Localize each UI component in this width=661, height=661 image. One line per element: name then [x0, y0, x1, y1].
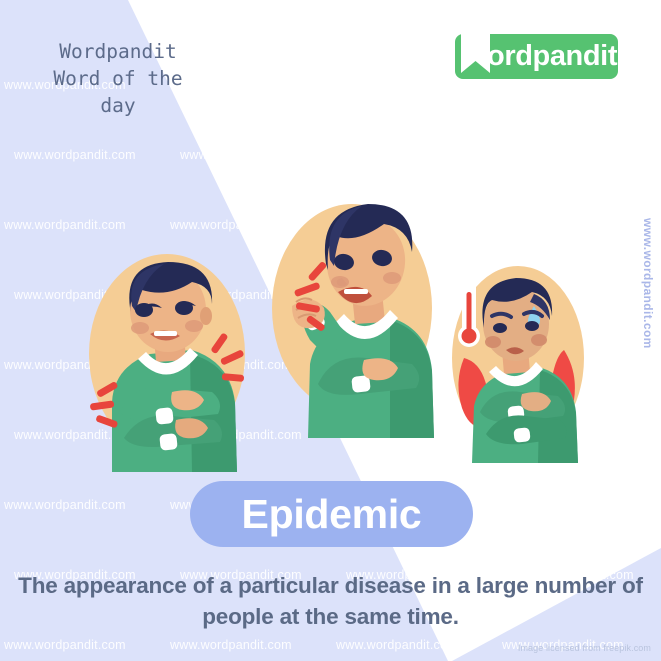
illustration-chest-pain [72, 242, 262, 472]
vertical-watermark: www.wordpandit.com [641, 218, 655, 349]
illustration-coughing [252, 188, 452, 438]
image-credit: Image licensed from freepik.com [518, 643, 651, 653]
word-term: Epidemic [190, 481, 473, 547]
definition-text: The appearance of a particular disease i… [12, 570, 649, 632]
word-of-the-day-card: www.wordpandit.comwww.wordpandit.comwww.… [0, 0, 661, 661]
page-title: Wordpandit Word of the day [18, 38, 218, 119]
illustration-fever [438, 258, 598, 463]
logo-text: ordpandit [487, 40, 617, 73]
